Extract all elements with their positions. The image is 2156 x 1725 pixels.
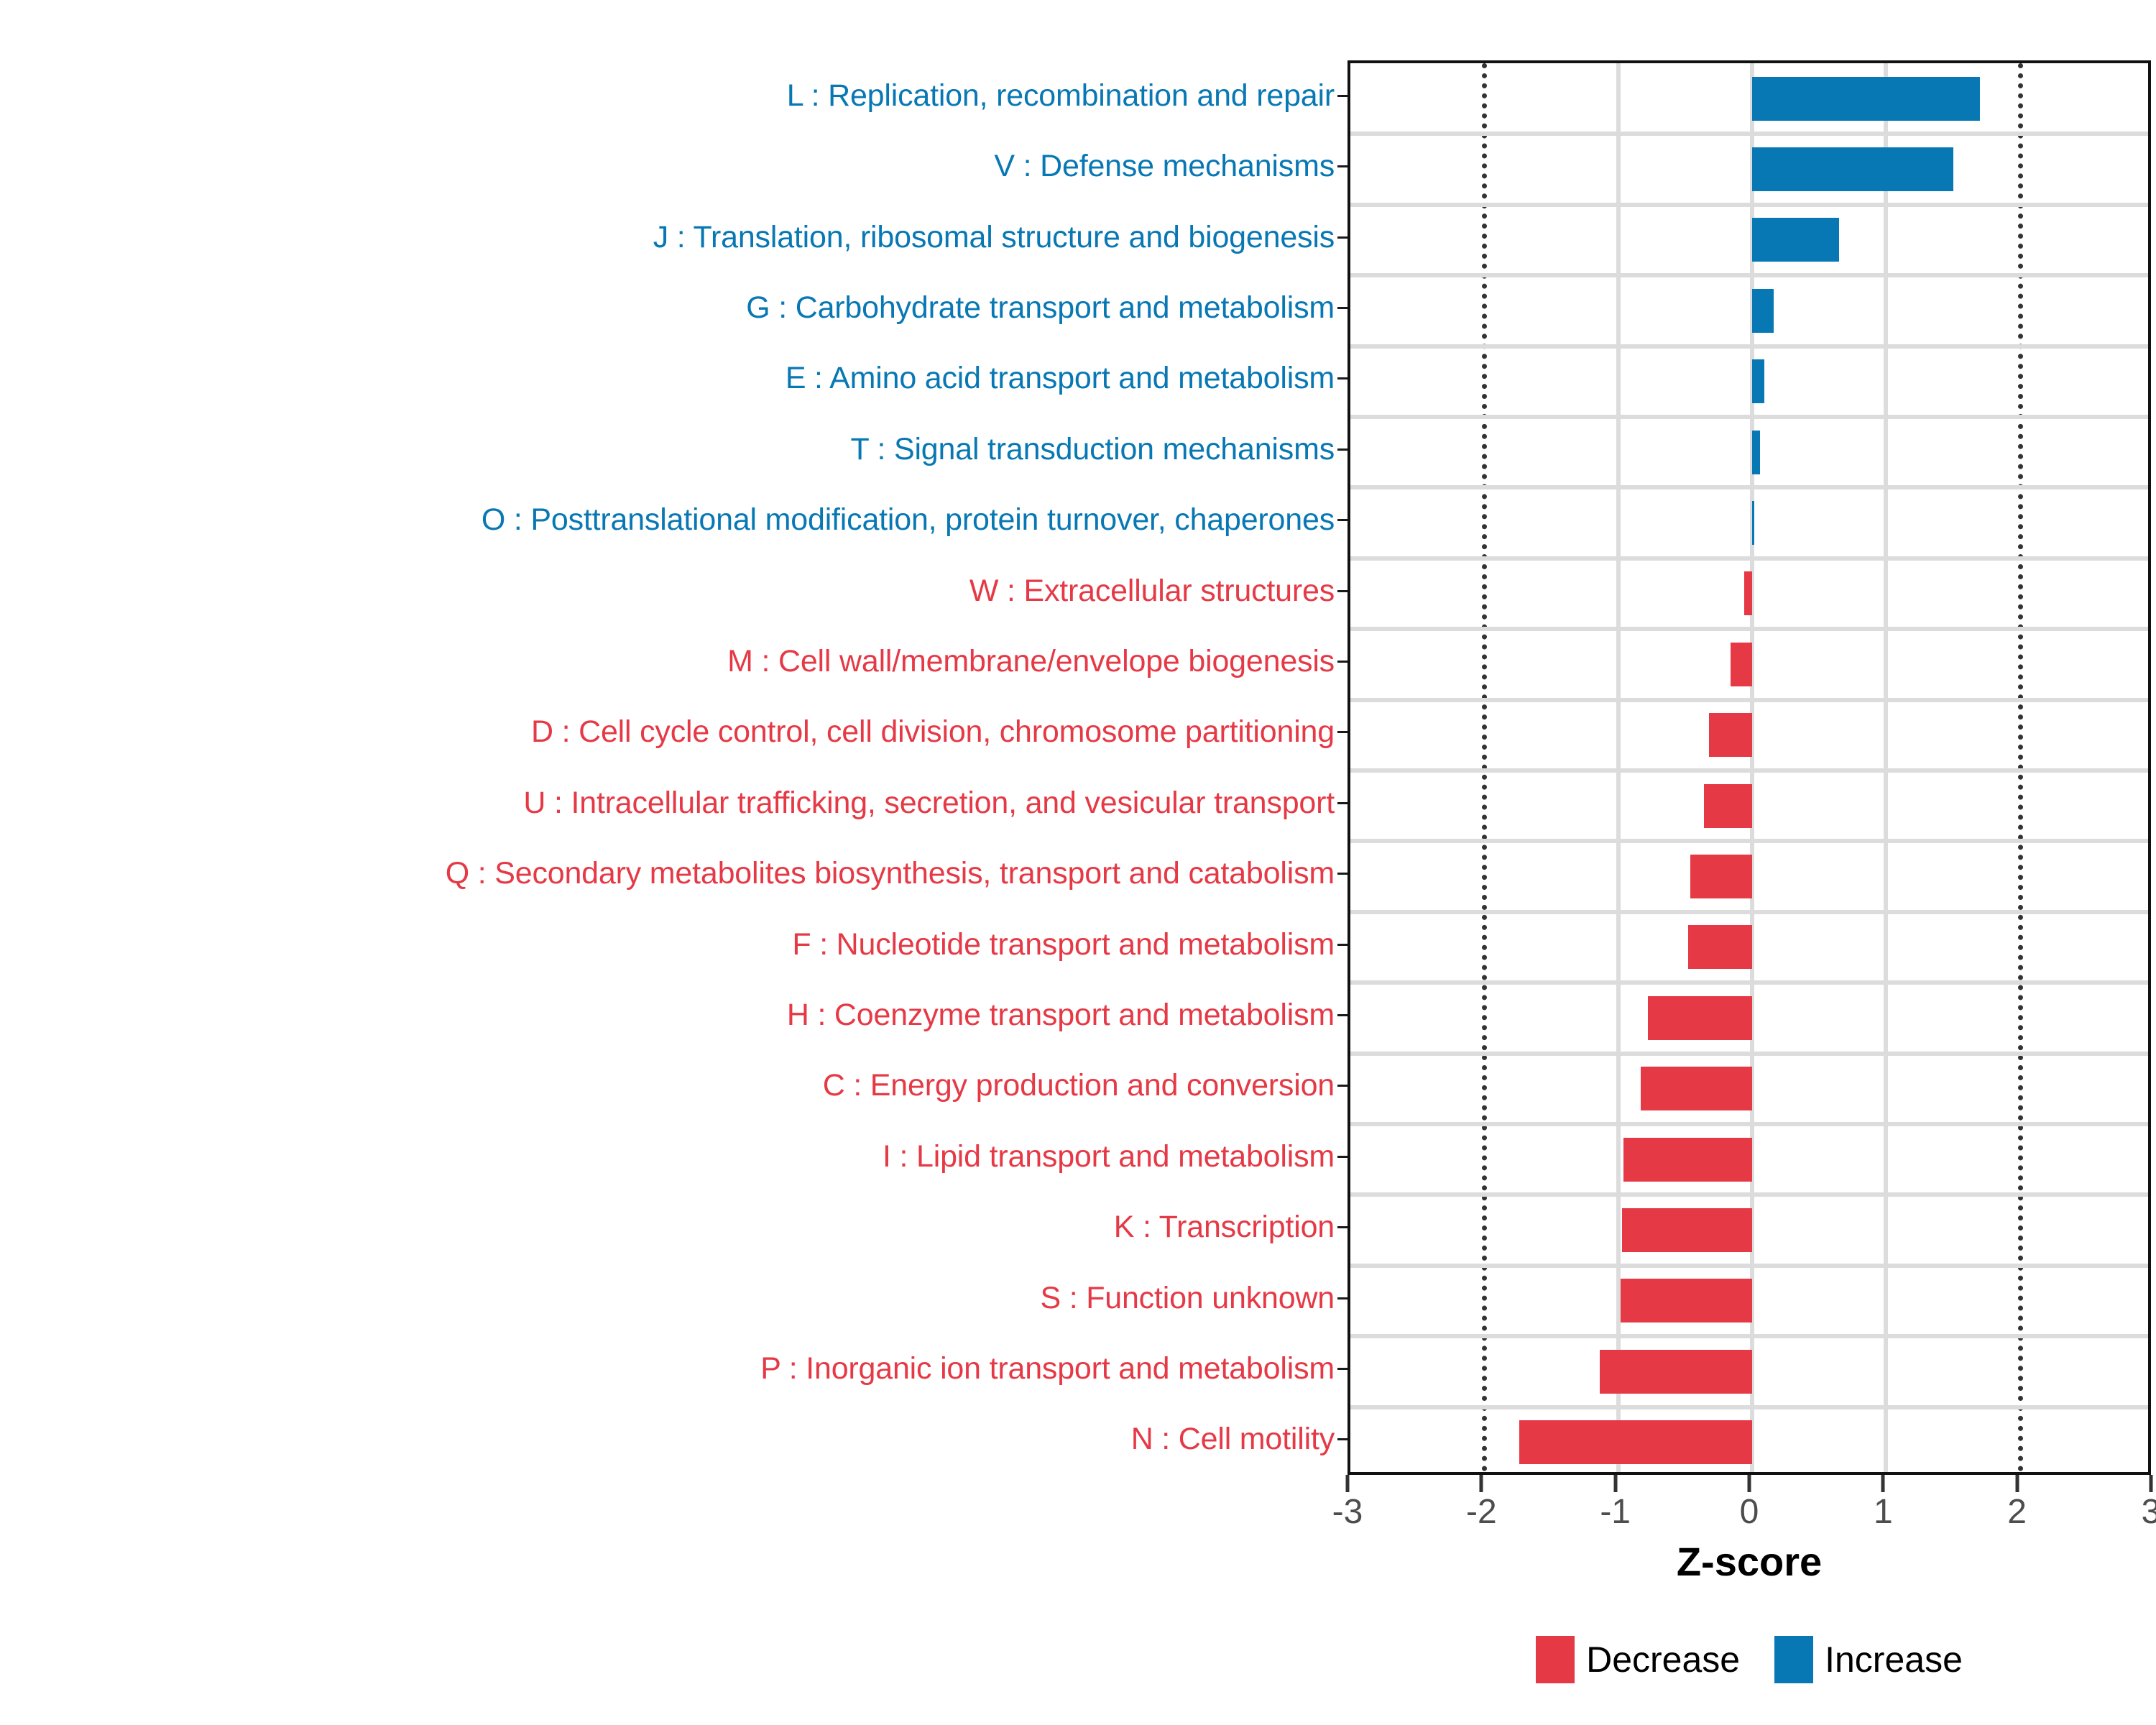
bar-row [1350, 1208, 2148, 1252]
category-label: D : Cell cycle control, cell division, c… [531, 717, 1335, 747]
bar-row [1350, 571, 2148, 615]
y-axis-tickmark [1337, 1085, 1347, 1087]
bar-row [1350, 784, 2148, 828]
chart-legend: DecreaseIncrease [1347, 1636, 2151, 1683]
legend-label: Increase [1825, 1639, 1963, 1680]
category-label: Q : Secondary metabolites biosynthesis, … [446, 858, 1335, 889]
category-label-row: D : Cell cycle control, cell division, c… [0, 697, 1347, 768]
y-axis-tickmark [1337, 448, 1347, 451]
category-label: O : Posttranslational modification, prot… [482, 505, 1335, 535]
x-axis-tick-label: -2 [1466, 1492, 1497, 1532]
bar[interactable] [1690, 855, 1752, 898]
bar-row [1350, 1279, 2148, 1322]
category-label-row: S : Function unknown [0, 1263, 1347, 1333]
category-label: F : Nucleotide transport and metabolism [792, 929, 1335, 960]
bar[interactable] [1600, 1350, 1752, 1394]
y-axis-tickmark [1337, 1156, 1347, 1158]
bar-row [1350, 1420, 2148, 1464]
bar-row [1350, 218, 2148, 262]
x-axis-tick-label: -1 [1600, 1492, 1631, 1532]
category-label-row: F : Nucleotide transport and metabolism [0, 909, 1347, 980]
x-axis-tickmark [1613, 1475, 1617, 1492]
x-axis-tickmark [2015, 1475, 2019, 1492]
category-label-row: Q : Secondary metabolites biosynthesis, … [0, 838, 1347, 908]
category-label-row: N : Cell motility [0, 1404, 1347, 1475]
category-label-row: V : Defense mechanisms [0, 131, 1347, 201]
y-axis-tickmark [1337, 307, 1347, 309]
legend-swatch-icon [1536, 1636, 1575, 1683]
category-label-row: L : Replication, recombination and repai… [0, 60, 1347, 131]
bar-row [1350, 147, 2148, 191]
y-axis-tickmark [1337, 590, 1347, 592]
y-axis-tickmark [1337, 1297, 1347, 1299]
category-label-row: U : Intracellular trafficking, secretion… [0, 768, 1347, 838]
legend-item[interactable]: Decrease [1536, 1636, 1740, 1683]
category-label-row: W : Extracellular structures [0, 556, 1347, 626]
bar-row [1350, 996, 2148, 1040]
bar[interactable] [1752, 218, 1839, 262]
x-axis-tick-label: 0 [1740, 1492, 1759, 1532]
category-label-row: M : Cell wall/membrane/envelope biogenes… [0, 626, 1347, 696]
category-label: L : Replication, recombination and repai… [787, 80, 1335, 111]
category-label-row: K : Transcription [0, 1192, 1347, 1263]
bar-row [1350, 643, 2148, 686]
y-axis-tickmark [1337, 519, 1347, 521]
category-label-row: C : Energy production and conversion [0, 1051, 1347, 1121]
y-axis-tickmark [1337, 1014, 1347, 1016]
y-axis-tickmark [1337, 1368, 1347, 1370]
bar[interactable] [1688, 925, 1752, 969]
bar[interactable] [1752, 289, 1774, 333]
bars-layer [1350, 63, 2148, 1472]
category-label: T : Signal transduction mechanisms [850, 434, 1335, 465]
bar[interactable] [1622, 1208, 1752, 1252]
y-axis-tickmark [1337, 731, 1347, 733]
bar[interactable] [1704, 784, 1752, 828]
x-axis-tickmark [1881, 1475, 1885, 1492]
bar[interactable] [1731, 643, 1752, 686]
bar-row [1350, 289, 2148, 333]
bar[interactable] [1623, 1138, 1752, 1182]
bar-row [1350, 1067, 2148, 1110]
category-label: N : Cell motility [1131, 1424, 1335, 1455]
bar-row [1350, 1138, 2148, 1182]
category-label-row: E : Amino acid transport and metabolism [0, 344, 1347, 414]
bar-row [1350, 431, 2148, 474]
category-label: P : Inorganic ion transport and metaboli… [760, 1353, 1335, 1384]
x-axis-tick-label: 1 [1874, 1492, 1893, 1532]
x-axis-tick-label: -3 [1332, 1492, 1363, 1532]
category-label: V : Defense mechanisms [994, 151, 1335, 182]
x-axis-tick-label: 2 [2007, 1492, 2027, 1532]
y-axis-tickmark [1337, 873, 1347, 875]
bar-row [1350, 1350, 2148, 1394]
bar-row [1350, 77, 2148, 121]
bar[interactable] [1744, 571, 1752, 615]
y-axis-tickmark [1337, 1226, 1347, 1228]
plot-panel [1347, 60, 2151, 1475]
legend-label: Decrease [1586, 1639, 1740, 1680]
y-axis-tickmark [1337, 95, 1347, 97]
x-axis-tickmark [1480, 1475, 1483, 1492]
category-label-row: G : Carbohydrate transport and metabolis… [0, 272, 1347, 343]
category-label-row: T : Signal transduction mechanisms [0, 414, 1347, 484]
bar-row [1350, 501, 2148, 545]
bar[interactable] [1752, 77, 1980, 121]
y-axis-tickmark [1337, 377, 1347, 379]
y-axis-tickmark [1337, 944, 1347, 946]
category-label: U : Intracellular trafficking, secretion… [523, 788, 1335, 819]
x-axis-tickmark [1346, 1475, 1350, 1492]
bar[interactable] [1752, 501, 1754, 545]
y-axis-tickmark [1337, 802, 1347, 804]
y-axis-tickmark [1337, 661, 1347, 663]
bar[interactable] [1648, 996, 1752, 1040]
legend-item[interactable]: Increase [1774, 1636, 1963, 1683]
category-label-column: L : Replication, recombination and repai… [0, 60, 1347, 1475]
x-axis-tickmark [1748, 1475, 1751, 1492]
bar[interactable] [1709, 713, 1752, 757]
category-label: G : Carbohydrate transport and metabolis… [746, 293, 1335, 323]
category-label-row: I : Lipid transport and metabolism [0, 1121, 1347, 1192]
category-label-row: P : Inorganic ion transport and metaboli… [0, 1333, 1347, 1404]
y-axis-tickmark [1337, 236, 1347, 239]
x-axis-tick-label: 3 [2142, 1492, 2156, 1532]
category-label: K : Transcription [1114, 1212, 1335, 1243]
cog-zscore-bar-chart: L : Replication, recombination and repai… [0, 0, 2156, 1725]
x-axis-tickmark [2150, 1475, 2153, 1492]
bar[interactable] [1752, 359, 1764, 403]
bar-row [1350, 925, 2148, 969]
category-label: I : Lipid transport and metabolism [883, 1141, 1335, 1172]
bar-row [1350, 855, 2148, 898]
y-axis-tickmark [1337, 165, 1347, 167]
bar[interactable] [1519, 1420, 1752, 1464]
category-label: M : Cell wall/membrane/envelope biogenes… [727, 646, 1335, 677]
category-label: C : Energy production and conversion [823, 1070, 1335, 1101]
legend-swatch-icon [1774, 1636, 1813, 1683]
bar-row [1350, 359, 2148, 403]
category-label: H : Coenzyme transport and metabolism [787, 1000, 1335, 1031]
category-label: S : Function unknown [1040, 1283, 1335, 1314]
bar[interactable] [1752, 147, 1953, 191]
category-label: E : Amino acid transport and metabolism [786, 363, 1335, 394]
category-label-row: J : Translation, ribosomal structure and… [0, 202, 1347, 272]
bar-row [1350, 713, 2148, 757]
y-axis-tickmark [1337, 1438, 1347, 1440]
bar[interactable] [1641, 1067, 1752, 1110]
category-label: J : Translation, ribosomal structure and… [653, 222, 1335, 253]
x-axis-title: Z-score [1347, 1538, 2151, 1585]
category-label: W : Extracellular structures [969, 576, 1335, 607]
category-label-row: O : Posttranslational modification, prot… [0, 484, 1347, 555]
bar[interactable] [1752, 431, 1760, 474]
category-label-row: H : Coenzyme transport and metabolism [0, 980, 1347, 1050]
bar[interactable] [1621, 1279, 1752, 1322]
